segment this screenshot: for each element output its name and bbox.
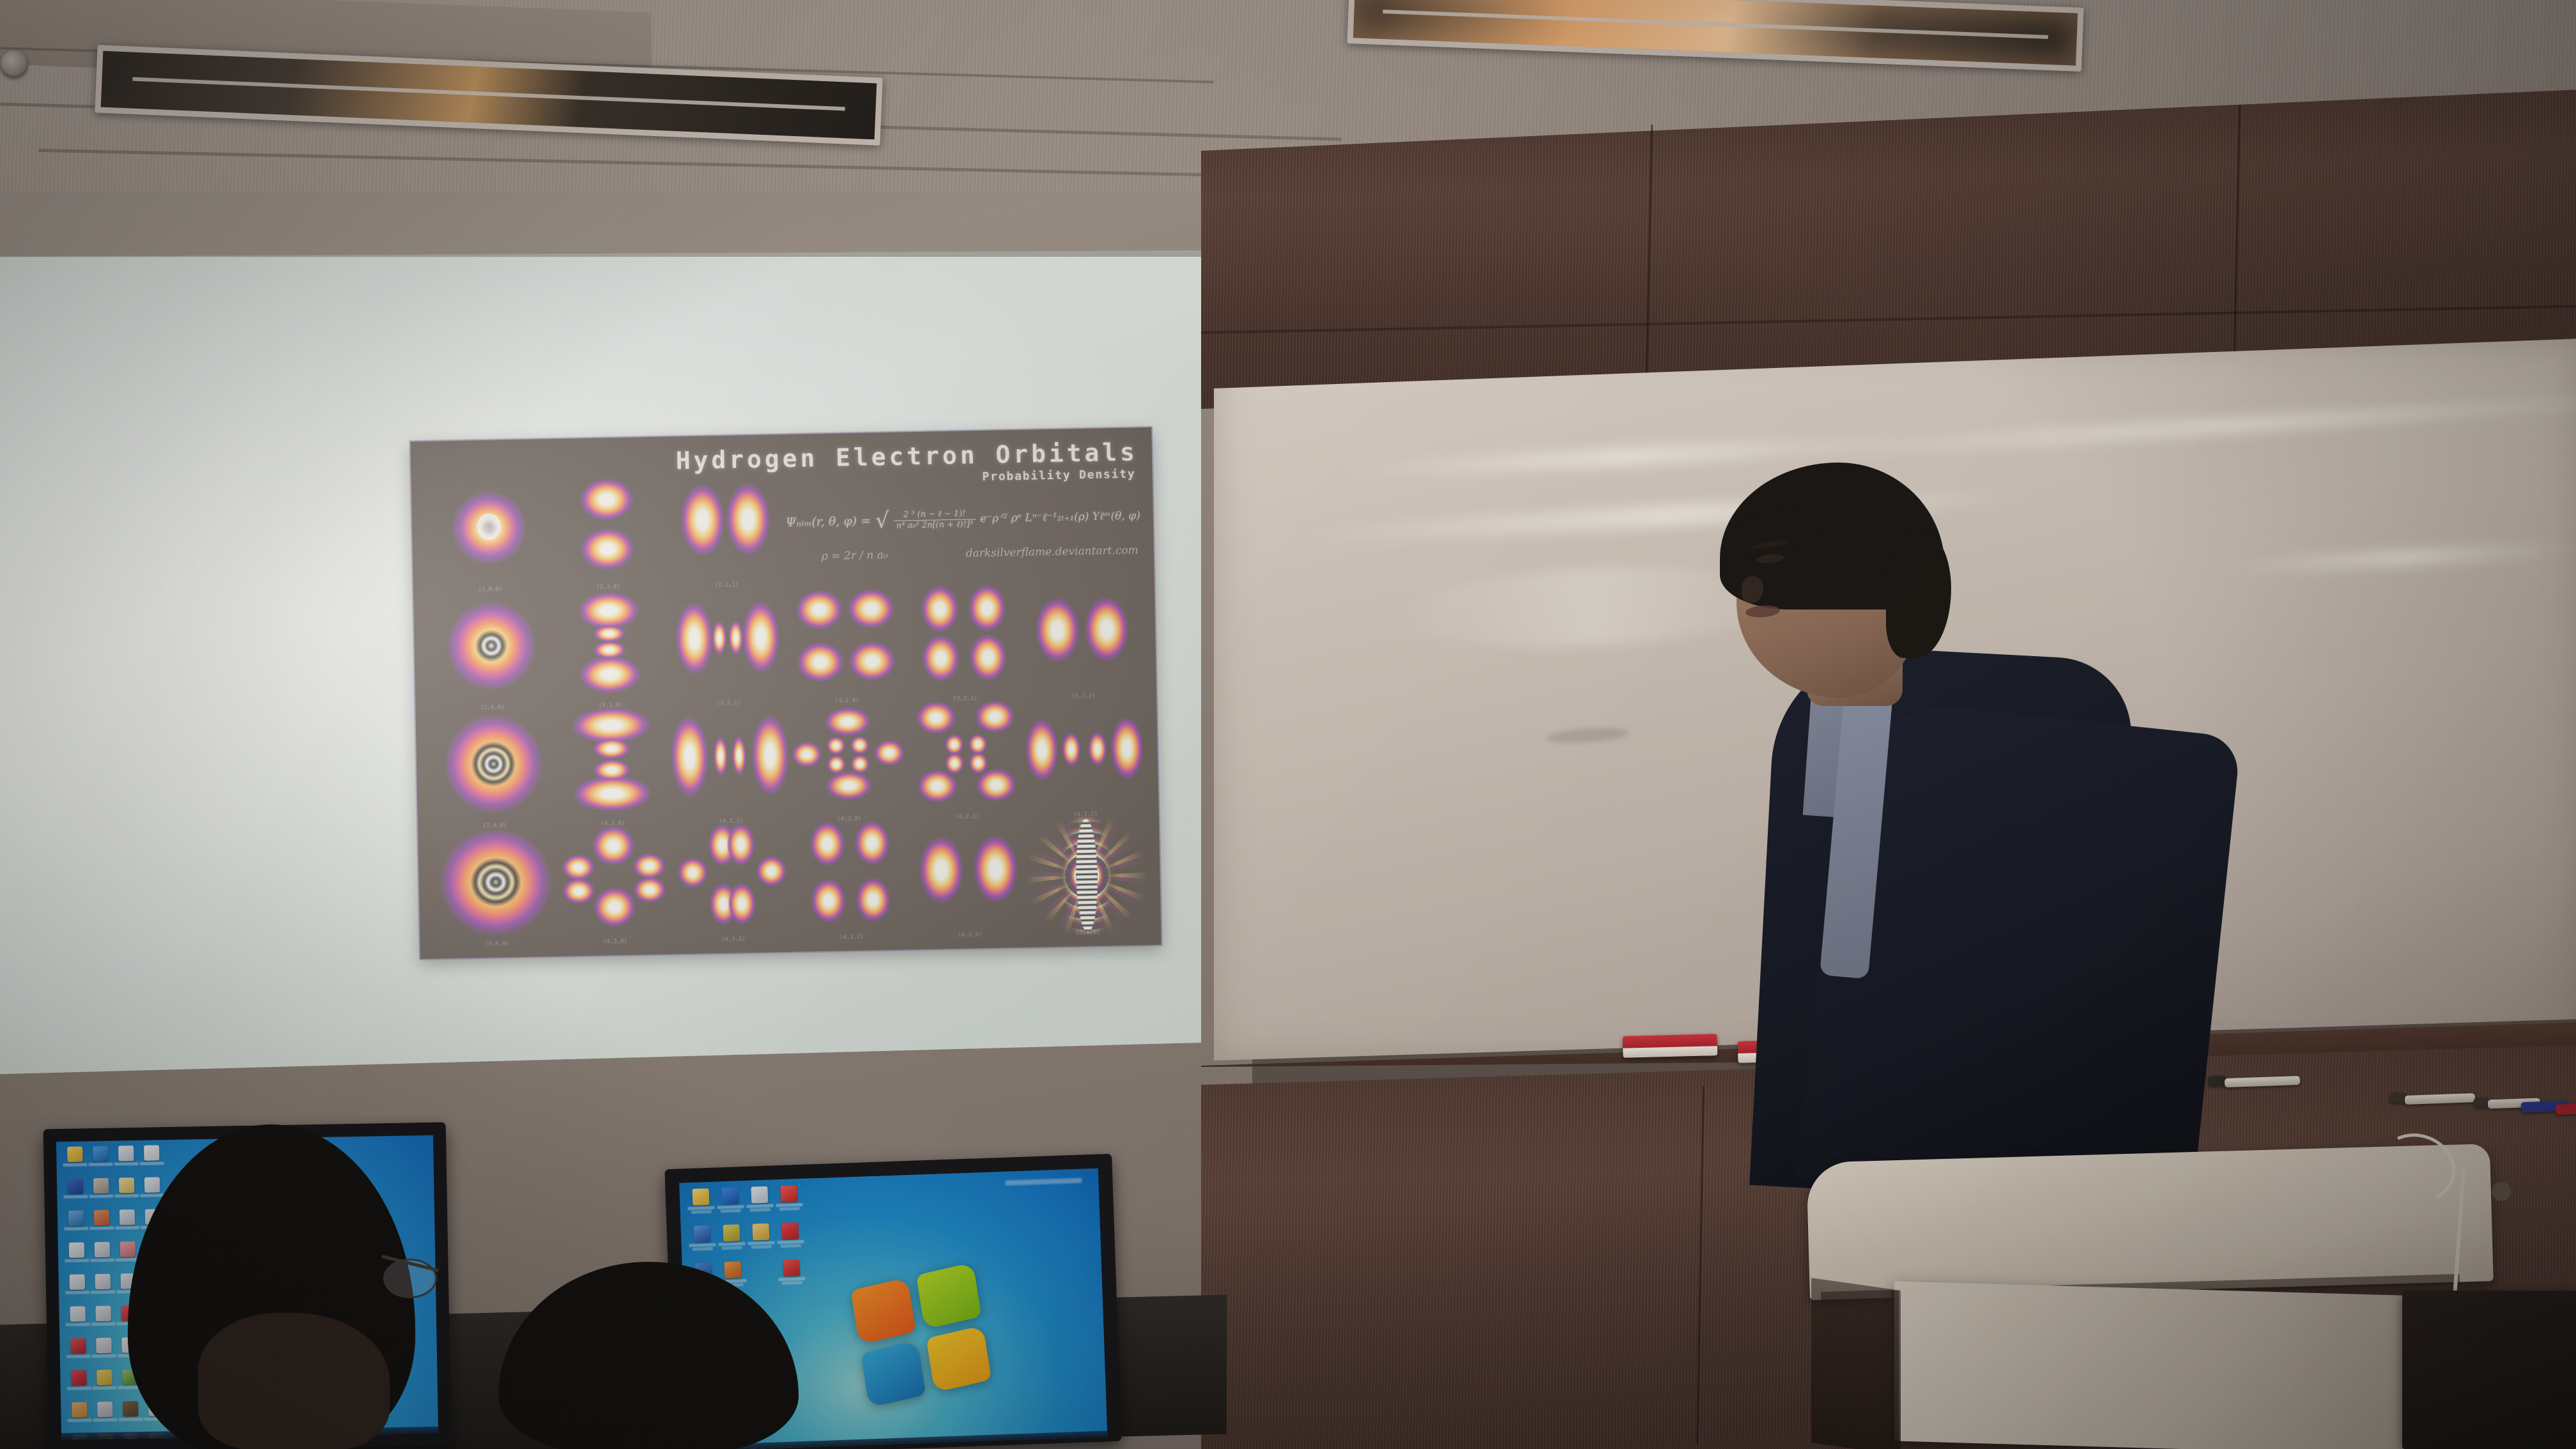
orbital-cell-4-5: (4,3,3) [908,818,1029,939]
ceiling-downlight-left [0,50,28,78]
icon-label-2 [781,1244,801,1248]
icon-folder [119,1177,134,1193]
desktop-icon[interactable] [778,1259,806,1294]
orbital-4f-6lobe [672,822,793,943]
icon-label [89,1162,113,1166]
desktop-icon[interactable] [114,1146,139,1177]
icon-folder [692,1188,709,1206]
icon-label-2 [693,1247,712,1251]
windows-logo-pane-green [916,1262,982,1330]
desktop-icon[interactable] [776,1222,804,1257]
orbital-label: (4,3,0) [556,937,674,946]
orbital-label: (4,3,1) [674,935,792,944]
presenter [1661,441,2185,1195]
icon-label [91,1290,115,1294]
desktop-icon[interactable] [93,1402,118,1433]
icon-doc [70,1306,86,1321]
orbital-3p-z [549,588,670,709]
orbital-cell-4-3: (4,3,1) [672,822,793,943]
windows-logo [850,1262,992,1408]
icon-app [93,1146,108,1161]
orbital-4d-x [788,701,908,822]
orbital-grid: (1,0,0) (2,1,0) (2,1,1) [429,461,1147,947]
lectern-side-shadow [1811,1278,1901,1449]
desktop-icon[interactable] [91,1274,116,1305]
desktop-icon[interactable] [688,1225,716,1261]
marker-cap-2[interactable] [2389,1092,2407,1103]
icon-doc [70,1274,85,1289]
icon-app [780,1185,797,1202]
icon-label-2 [691,1210,711,1214]
desktop-watermark [1005,1178,1082,1186]
whiteboard-glare-5 [2223,540,2576,575]
desktop-icon[interactable] [90,1242,115,1273]
icon-label-2 [722,1246,742,1250]
icon-app [94,1210,109,1225]
orbital-cell-4-6: (5,4,0) [1027,815,1147,936]
lectern-body [1894,1281,2469,1449]
orbital-cell-1-5-empty [901,463,1022,584]
orbital-3d-wide [1022,579,1143,700]
icon-label [114,1161,139,1165]
desktop-icon[interactable] [63,1146,88,1177]
icon-label-2 [750,1208,770,1212]
orbital-label: (4,0,0) [438,940,556,949]
orbital-label: (5,4,0) [1029,928,1147,937]
orbital-4d-wide [1024,697,1145,818]
icon-doc [144,1177,160,1192]
icon-label [65,1259,89,1262]
orbital-cell-2-2: (3,1,0) [549,588,670,709]
desktop-icon[interactable] [746,1186,774,1221]
orbital-interference-pattern [1027,815,1147,936]
whiteboard-smudge [1545,725,1629,745]
orbital-4f-wide [908,818,1029,939]
orbital-cell-3-3: (4,1,1) [670,704,790,825]
desktop-icon[interactable] [717,1224,746,1259]
orbital-cell-4-1: (4,0,0) [436,827,556,947]
icon-label [64,1227,88,1230]
icon-app [693,1225,710,1243]
orbital-2p-xy [665,468,786,588]
icon-folder [67,1146,82,1161]
icon-doc [118,1146,134,1161]
desktop-icon[interactable] [91,1338,116,1369]
desktop-icon[interactable] [65,1274,90,1305]
orbital-4f-clover [790,820,911,940]
orbital-4s [436,827,556,947]
icon-pdf [781,1222,799,1239]
desktop-icon[interactable] [65,1242,89,1273]
orbital-cell-2-3: (3,1,1) [668,586,788,707]
desktop-icon[interactable] [64,1210,89,1241]
orbital-2s [431,590,552,711]
desktop-icon[interactable] [115,1209,140,1241]
orbital-cell-4-2: (4,3,0) [554,824,675,945]
icon-label-2 [782,1281,802,1285]
icon-label [89,1226,114,1230]
icon-app [120,1241,135,1257]
orbital-cell-1-1: (1,0,0) [429,472,549,593]
orbital-cell-1-6-empty [1020,461,1140,581]
icon-label [68,1418,92,1422]
icon-label-2 [721,1209,740,1213]
icon-folder [96,1370,112,1385]
orbital-3d-clover [904,581,1025,702]
desktop-icon[interactable] [67,1402,92,1433]
desktop-icon[interactable] [716,1187,744,1222]
icon-doc [96,1338,112,1353]
icon-app [723,1224,740,1241]
orbital-cell-4-4: (4,3,2) [790,820,911,940]
icon-label-2 [751,1245,771,1249]
icon-app [72,1402,87,1417]
icon-app [68,1210,84,1225]
presenter-hair-back [1886,530,1951,658]
icon-label [65,1291,89,1294]
icon-label [93,1418,118,1422]
icon-app [724,1261,741,1278]
icon-label [91,1322,116,1326]
icon-label-2 [779,1207,799,1211]
icon-label [63,1163,88,1167]
desktop-icon[interactable] [65,1306,90,1337]
icon-pdf [71,1370,86,1385]
student-front-left-neck [198,1313,390,1449]
orbital-4p-z [551,706,672,827]
icon-label [119,1417,143,1421]
orbital-cell-3-2: (4,1,0) [551,706,672,827]
icon-doc [69,1242,84,1257]
desktop-icon[interactable] [687,1188,715,1223]
slide-hydrogen-orbitals: Hydrogen Electron Orbitals Probability D… [410,427,1161,959]
icon-label [67,1386,91,1390]
orbital-cell-3-4: (4,2,0) [788,701,908,822]
icon-label [93,1386,117,1390]
windows-logo-pane-blue [861,1340,926,1407]
windows-logo-pane-yellow [926,1325,992,1393]
icon-label [92,1354,116,1358]
icon-doc [96,1306,111,1321]
desktop-icon[interactable] [92,1370,117,1401]
desktop-icon[interactable] [88,1146,113,1177]
desktop-icon[interactable] [139,1145,164,1176]
icon-app [123,1401,138,1416]
desktop-icon[interactable] [747,1223,775,1258]
desktop-icon[interactable] [63,1178,88,1209]
orbital-cell-1-4-empty [783,465,904,586]
orbital-cell-3-6: (4,2,2) [1024,697,1145,818]
icon-pdf [783,1259,800,1276]
icon-doc [95,1274,111,1289]
desktop-icon[interactable] [91,1306,116,1337]
orbital-2p-z [547,470,668,591]
orbital-cell-3-1: (3,0,0) [433,709,554,829]
icon-app [68,1178,83,1193]
lectern-cable-grommet [2492,1182,2511,1201]
orbital-1s [429,472,549,593]
icon-label [66,1322,90,1326]
orbital-3d-x [786,583,907,704]
icon-doc [119,1209,135,1225]
orbital-3p-xy [668,586,788,707]
icon-app [93,1178,109,1193]
orbital-cell-1-3: (2,1,1) [665,468,786,588]
orbital-cell-2-4: (3,2,0) [786,583,907,704]
icon-label [63,1195,88,1199]
icon-app [721,1187,739,1204]
desktop-icon[interactable] [89,1178,114,1209]
marker-cap-3[interactable] [2474,1098,2490,1108]
orbital-3s [433,709,554,829]
icon-folder [752,1223,769,1241]
windows-logo-pane-orange [850,1277,916,1345]
orbital-cell-2-1: (2,0,0) [431,590,552,711]
orbital-4d-clover [906,700,1027,820]
projection-screen: Hydrogen Electron Orbitals Probability D… [0,250,1201,1075]
icon-doc [144,1145,159,1160]
desktop-icon[interactable] [66,1370,91,1401]
icon-label [140,1193,164,1197]
icon-label [114,1193,139,1197]
orbital-label: (4,3,3) [910,931,1029,940]
desktop-icon[interactable] [114,1177,139,1209]
orbital-cell-2-5: (3,2,1) [904,581,1025,702]
lecture-hall-photo: Hydrogen Electron Orbitals Probability D… [0,0,2576,1449]
desktop-icon[interactable] [775,1185,803,1220]
desktop-icon[interactable] [89,1210,114,1241]
orbital-cell-3-5: (4,2,1) [906,700,1027,820]
icon-label [140,1161,164,1165]
desktop-icon[interactable] [118,1401,143,1432]
icon-doc [95,1242,110,1257]
icon-label [115,1225,139,1229]
orbital-4p-xy [670,704,790,825]
marker-red[interactable] [2556,1103,2576,1115]
icon-label [89,1194,113,1198]
orbital-cell-1-2: (2,1,0) [547,470,668,591]
icon-label [66,1354,91,1358]
icon-label [90,1258,114,1262]
desktop-icon[interactable] [66,1338,91,1369]
icon-pdf [71,1338,86,1353]
icon-doc [751,1186,768,1204]
marker-black-cap[interactable] [2208,1076,2227,1087]
lectern-monitor[interactable] [2402,1291,2576,1449]
orbital-4f-v [554,824,675,945]
icon-doc [97,1402,112,1417]
orbital-cell-2-6: (3,2,2) [1022,579,1143,700]
orbital-label: (4,3,2) [792,933,910,942]
